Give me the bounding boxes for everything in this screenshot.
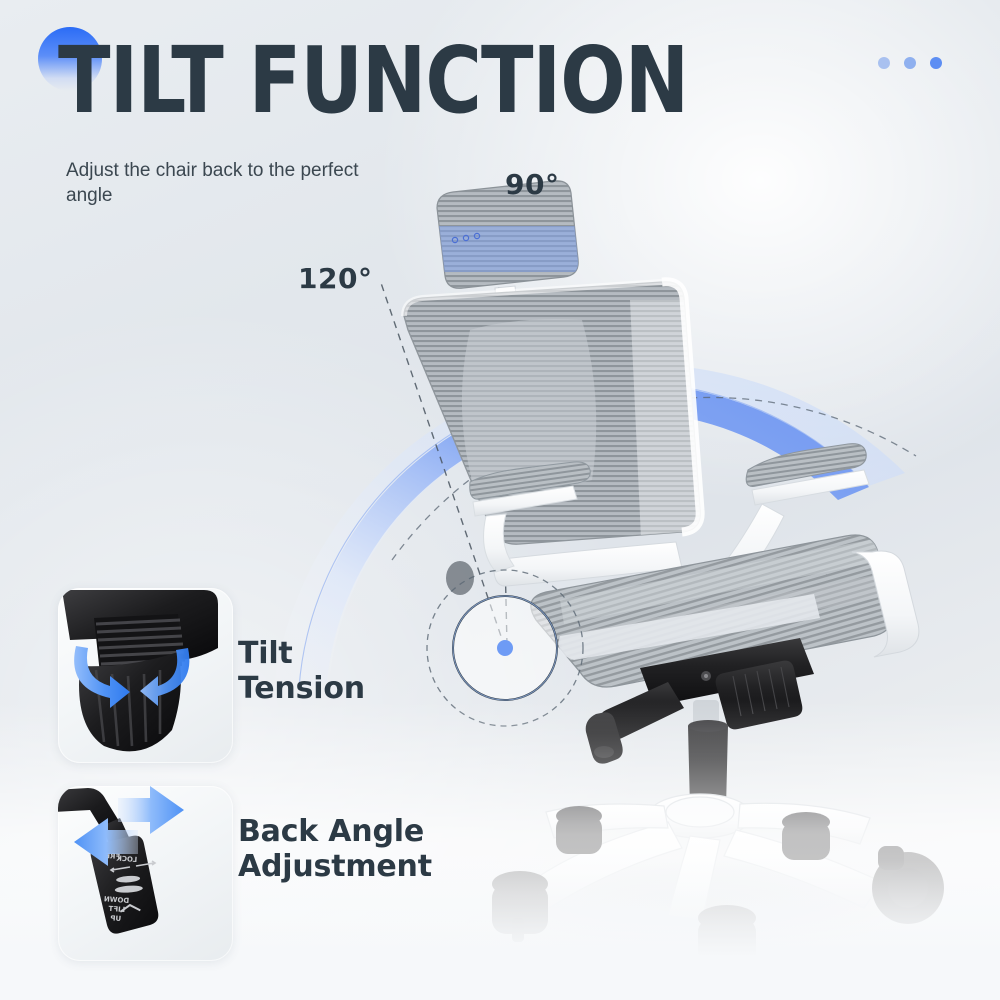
feature-title-line2: Tension [238,671,468,706]
decor-dots [878,57,942,69]
caster-front-center [698,905,756,974]
feature-title-back-angle: Back Angle Adjustment [238,814,498,884]
page-subtitle: Adjust the chair back to the perfect ang… [66,158,366,208]
svg-text:UP: UP [110,914,121,923]
caster-back-left [556,806,602,854]
feature-card-back-angle: LOCK FREE DOWN LIFT UP [58,786,233,961]
caster-front-right [872,846,944,924]
feature-card-tilt-tension [58,588,233,763]
pivot-dot [497,640,513,656]
dot-1-icon [878,57,890,69]
feature-title-line1: Back Angle [238,814,498,849]
tension-knob-icon [58,588,233,763]
page-title: TILT FUNCTION [58,35,688,127]
feature-title-line1: Tilt [238,636,468,671]
lever-icon: LOCK FREE DOWN LIFT UP [58,786,233,961]
dot-2-icon [904,57,916,69]
back-angle-lever [586,682,684,764]
caster-back-right [782,812,830,860]
infographic-canvas: TILT FUNCTION Adjust the chair back to t… [0,0,1000,1000]
angle-label-90: 90° [505,168,559,201]
dot-3-icon [930,57,942,69]
caster-front-left [492,871,548,942]
feature-title-line2: Adjustment [238,849,498,884]
angle-label-120: 120° [298,262,372,295]
feature-title-tilt-tension: Tilt Tension [238,636,468,706]
backrest [404,282,730,586]
